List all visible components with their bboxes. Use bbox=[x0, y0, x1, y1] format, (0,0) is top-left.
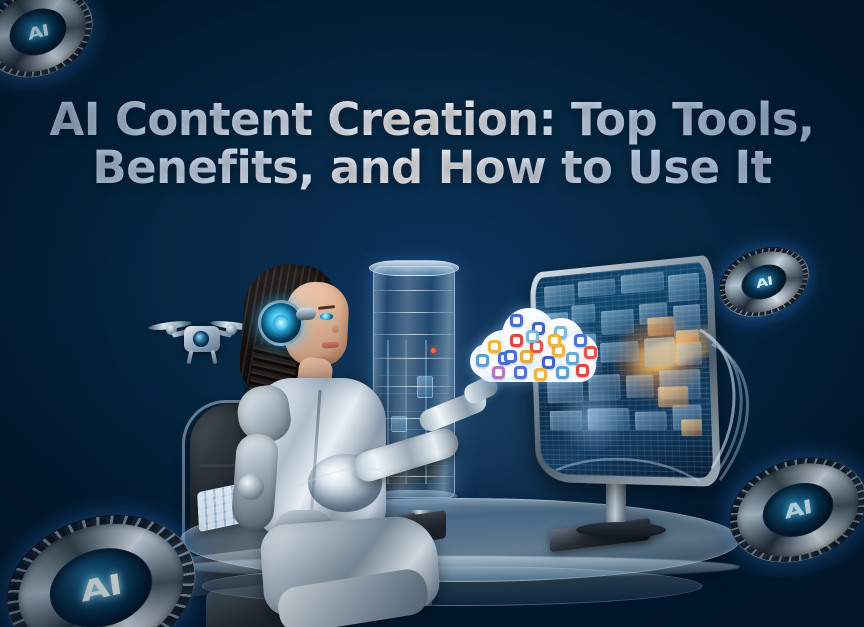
monitor-foot bbox=[576, 522, 666, 538]
screen-panel bbox=[587, 408, 629, 430]
page-title-line-2: Benefits, and How to Use It bbox=[30, 144, 834, 192]
app-icon[interactable] bbox=[510, 314, 523, 327]
app-icon[interactable] bbox=[584, 346, 597, 359]
app-icon[interactable] bbox=[574, 334, 587, 347]
badge-ai-label: AI bbox=[783, 496, 813, 524]
screen-panel bbox=[635, 411, 667, 430]
screen-panel bbox=[644, 337, 675, 367]
drone-camera-icon bbox=[193, 331, 209, 347]
app-icon-cloud[interactable] bbox=[470, 300, 602, 386]
app-icon[interactable] bbox=[520, 350, 533, 363]
page-title: AI Content Creation: Top Tools, Benefits… bbox=[0, 96, 864, 191]
screen-panel bbox=[601, 309, 634, 335]
app-icon[interactable] bbox=[488, 340, 501, 353]
robot-lips bbox=[322, 341, 339, 348]
robot-headphone-stem bbox=[296, 307, 317, 320]
screen-panel bbox=[668, 273, 700, 303]
robot-headphone-icon bbox=[258, 300, 304, 346]
screen-panel bbox=[578, 278, 616, 297]
badge-ai-label: AI bbox=[78, 568, 123, 609]
app-icon[interactable] bbox=[514, 366, 527, 379]
drone-leg-left bbox=[187, 350, 194, 365]
app-icon[interactable] bbox=[504, 350, 517, 363]
app-icon[interactable] bbox=[542, 356, 555, 369]
screen-panel-warm bbox=[676, 329, 699, 345]
app-icon[interactable] bbox=[566, 352, 579, 365]
screen-panel-warm bbox=[647, 316, 674, 336]
app-icon[interactable] bbox=[548, 334, 561, 347]
app-icon[interactable] bbox=[476, 354, 489, 367]
cloud-icon-grid bbox=[470, 300, 602, 386]
app-icon[interactable] bbox=[576, 364, 589, 377]
screen-panel bbox=[626, 375, 654, 398]
badge-ai-label: AI bbox=[755, 273, 773, 291]
ai-badge-top-left: AI bbox=[0, 0, 99, 89]
app-icon[interactable] bbox=[492, 366, 505, 379]
ai-badge-bottom-right: AI bbox=[723, 444, 864, 576]
app-icon[interactable] bbox=[526, 330, 539, 343]
ai-content-creation-banner: AI Content Creation: Top Tools, Benefits… bbox=[0, 0, 864, 627]
drone-leg-right bbox=[211, 350, 218, 365]
page-title-line-1: AI Content Creation: Top Tools, bbox=[50, 93, 815, 146]
robot-eye bbox=[320, 313, 333, 320]
screen-panel bbox=[621, 272, 665, 294]
screen-panel bbox=[676, 342, 702, 366]
app-icon[interactable] bbox=[534, 368, 547, 381]
ai-badge-bottom-left: AI bbox=[0, 498, 205, 627]
badge-ai-label: AI bbox=[26, 20, 49, 44]
ai-badge-mid-right: AI bbox=[715, 238, 814, 326]
robot-left-elbow bbox=[238, 474, 264, 500]
robot-nose bbox=[332, 324, 339, 333]
screen-panel bbox=[550, 411, 583, 431]
screen-panel-warm bbox=[681, 419, 702, 436]
app-icon[interactable] bbox=[510, 334, 523, 347]
screen-panel-warm bbox=[658, 386, 689, 407]
app-icon[interactable] bbox=[556, 366, 569, 379]
android-figure bbox=[222, 258, 442, 627]
screen-panel bbox=[600, 341, 639, 363]
